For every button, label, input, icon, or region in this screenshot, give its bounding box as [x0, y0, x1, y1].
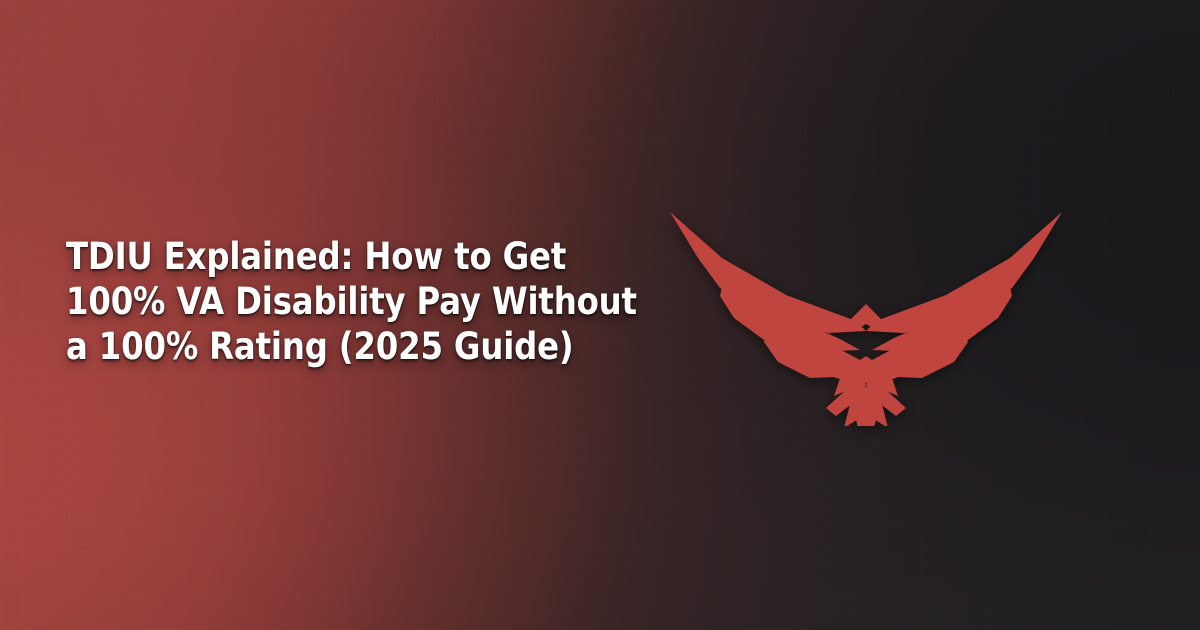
brand-logo: [660, 200, 1072, 426]
title-line-3: a 100% Rating (2025 Guide): [66, 324, 617, 369]
title-line-1: TDIU Explained: How to Get: [66, 234, 617, 279]
title-line-2: 100% VA Disability Pay Without: [66, 279, 617, 324]
page-title: TDIU Explained: How to Get 100% VA Disab…: [66, 234, 696, 369]
eagle-icon: [660, 200, 1072, 426]
social-share-card: TDIU Explained: How to Get 100% VA Disab…: [0, 0, 1200, 630]
